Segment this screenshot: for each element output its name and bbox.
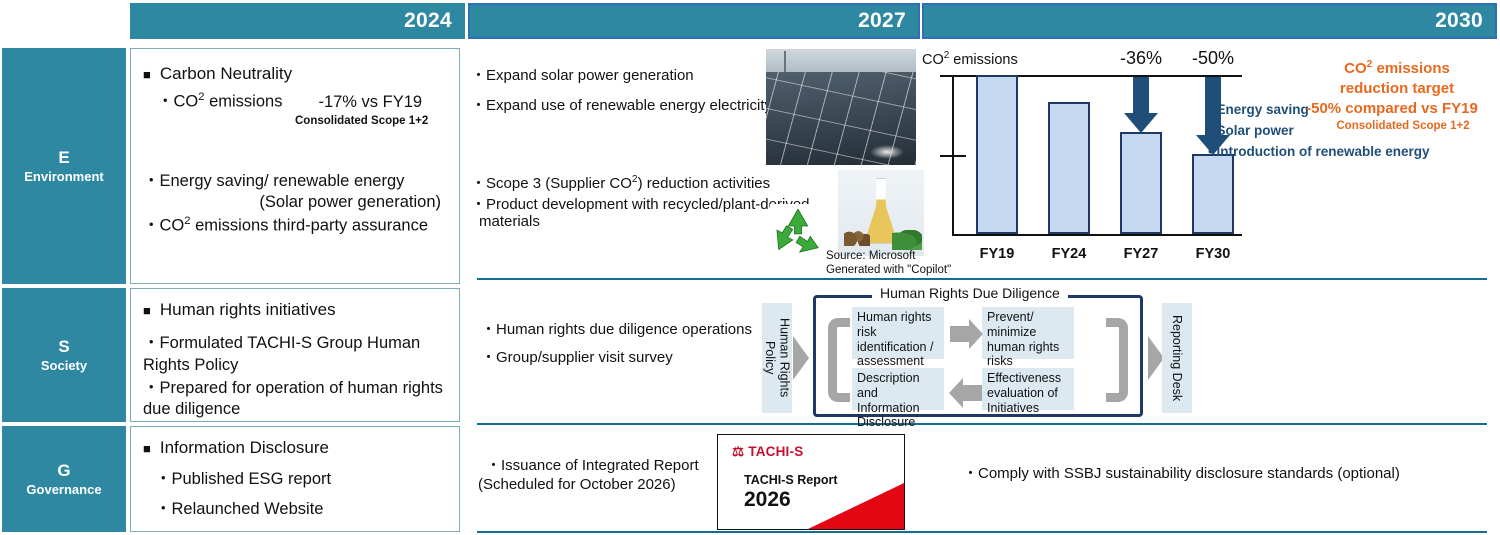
chart-x-axis (952, 234, 1242, 236)
square-bullet-icon: ■ (143, 303, 151, 320)
chart-bar-fy27 (1120, 132, 1162, 234)
chart-bar-fy30 (1192, 154, 1234, 234)
category-block-society: S Society (2, 288, 126, 422)
seed-beans (844, 230, 870, 246)
governance-bullet-esg-report: ・Published ESG report (143, 469, 447, 490)
co2-emissions-label: ・CO2 emissions (157, 90, 282, 113)
chart-arrow-fy27-head (1124, 113, 1158, 133)
timeline-year-2030: 2030 (1435, 9, 1483, 33)
chart-y-axis-label: CO2 emissions (922, 50, 1018, 68)
box-2024-governance: ■ Information Disclosure ・Published ESG … (130, 426, 460, 532)
society-bullet-policy: ・Formulated TACHI-S Group Human Rights P… (143, 333, 447, 376)
measure-renewable-energy: • Introduction of renewable energy (1208, 142, 1430, 163)
chart-tick-50 (940, 155, 966, 157)
reduction-target-line3: -50% compared vs FY19 (1272, 100, 1500, 117)
solar-glare (870, 145, 904, 159)
category-letter-s: S (58, 336, 69, 357)
third-party-assurance: ・CO2 emissions third-party assurance (143, 214, 447, 237)
heading-information-disclosure: ■ Information Disclosure (143, 437, 447, 459)
heading-carbon-neutrality: ■ Carbon Neutrality (143, 63, 447, 85)
tachi-s-logo-text: TACHI-S (748, 444, 803, 459)
consolidated-scope-note: Consolidated Scope 1+2 (143, 115, 447, 127)
timeline-band-2024: 2024 (130, 3, 465, 39)
bullet-supplier-survey: ・Group/supplier visit survey (481, 346, 673, 367)
report-year: 2026 (744, 488, 791, 512)
solar-panel-photo (766, 49, 916, 165)
chart-annotation-fy27: -36% (1106, 48, 1176, 69)
reduction-target-note: Consolidated Scope 1+2 (1288, 120, 1500, 132)
category-letter-g: G (57, 460, 70, 481)
timeline-year-2024: 2024 (404, 9, 452, 33)
governance-bullet-website: ・Relaunched Website (143, 499, 447, 520)
divider-bottom (477, 531, 1487, 533)
co2-emissions-bar-chart: CO2 emissions FY19 FY24 FY27 FY30 -36% -… (920, 48, 1260, 278)
bullet-product-development-line2: materials (479, 213, 540, 230)
society-bullet-duediligence: ・Prepared for operation of human rights … (143, 378, 447, 421)
reduction-target-line2: reduction target (1282, 79, 1500, 99)
tachi-s-report-cover: ⚖ TACHI-S TACHI-S Report 2026 (717, 434, 905, 530)
chart-tick-100 (940, 75, 966, 77)
hrdd-arrow-left (962, 385, 982, 401)
chart-bar-fy24 (1048, 102, 1090, 234)
chart-annotation-fy30: -50% (1178, 48, 1248, 69)
esg-roadmap-slide: 2024 2027 2030 E Environment S Society G… (0, 0, 1500, 535)
timeline-year-2027: 2027 (858, 9, 906, 33)
category-letter-e: E (58, 147, 69, 168)
category-name-governance: Governance (26, 482, 101, 498)
heading-human-rights-initiatives-text: Human rights initiatives (160, 299, 336, 321)
hrdd-input-arrow-icon (793, 336, 809, 380)
timeline-band-2027: 2027 (468, 3, 920, 39)
image-source-line1: Source: Microsoft (826, 250, 915, 262)
hrdd-arrow-right (950, 326, 970, 342)
bullet-ssbj-compliance: ・Comply with SSBJ sustainability disclos… (963, 462, 1400, 483)
category-name-society: Society (41, 358, 87, 374)
bullet-expand-solar: ・Expand solar power generation (471, 64, 694, 85)
hrdd-cycle-bracket-left (828, 318, 850, 402)
bullet-product-development-line1: ・Product development with recycled/plant… (471, 193, 810, 214)
category-block-environment: E Environment (2, 48, 126, 284)
square-bullet-icon: ■ (143, 67, 151, 84)
category-name-environment: Environment (24, 169, 103, 185)
hrdd-cycle-bracket-right (1106, 318, 1128, 402)
leaf-icon (892, 230, 922, 250)
bullet-integrated-report-line2: (Scheduled for October 2026) (478, 476, 676, 493)
report-red-wedge (808, 483, 904, 529)
box-2024-environment: ■ Carbon Neutrality ・CO2 emissions -17% … (130, 48, 460, 284)
box-2024-society: ■ Human rights initiatives ・Formulated T… (130, 288, 460, 422)
category-block-governance: G Governance (2, 426, 126, 532)
bullet-scope3: ・Scope 3 (Supplier CO2) reduction activi… (471, 172, 770, 193)
hrdd-step-disclosure: Description and Information Disclosure (852, 368, 944, 410)
energy-saving-line1: ・Energy saving/ renewable energy (143, 171, 447, 192)
heading-information-disclosure-text: Information Disclosure (160, 437, 329, 459)
divider-environment-society (477, 278, 1487, 280)
report-title: TACHI-S Report (744, 473, 838, 487)
co2-emissions-value: -17% vs FY19 (318, 92, 422, 113)
timeline-band-2030: 2030 (922, 3, 1497, 39)
divider-society-governance (477, 423, 1487, 425)
bullet-hrdd-operations: ・Human rights due diligence operations (481, 318, 752, 339)
recycle-symbol-icon (770, 204, 826, 260)
reduction-target-line1: CO2 emissions (1282, 58, 1500, 79)
hrdd-output-label: Reporting Desk (1162, 303, 1192, 413)
tachi-s-logo: ⚖ TACHI-S (732, 444, 803, 460)
bullet-integrated-report-line1: ・Issuance of Integrated Report (486, 454, 699, 475)
energy-saving-line2: (Solar power generation) (143, 192, 447, 213)
chart-xtick-fy19: FY19 (967, 246, 1027, 262)
bullet-expand-renewable: ・Expand use of renewable energy electric… (471, 94, 772, 115)
tachi-s-logo-mark: ⚖ (732, 444, 744, 459)
hrdd-step-risk-identification: Human rights risk identification / asses… (852, 307, 944, 359)
chart-xtick-fy30: FY30 (1183, 246, 1243, 262)
chart-xtick-fy27: FY27 (1111, 246, 1171, 262)
chart-arrow-fy27-shaft (1133, 77, 1149, 113)
plant-derived-oil-flask-photo (838, 170, 924, 256)
hrdd-input-label: Human Rights Policy (762, 303, 792, 413)
heading-human-rights-initiatives: ■ Human rights initiatives (143, 299, 447, 321)
heading-carbon-neutrality-text: Carbon Neutrality (160, 63, 292, 85)
hrdd-step-effectiveness-evaluation: Effectiveness evaluation of Initiatives (982, 368, 1074, 410)
square-bullet-icon: ■ (143, 441, 151, 458)
hrdd-step-prevent-minimize: Prevent/ minimize human rights risks (982, 307, 1074, 359)
chart-xtick-fy24: FY24 (1039, 246, 1099, 262)
chart-bar-fy19 (976, 75, 1018, 234)
hrdd-title: Human Rights Due Diligence (872, 285, 1068, 301)
